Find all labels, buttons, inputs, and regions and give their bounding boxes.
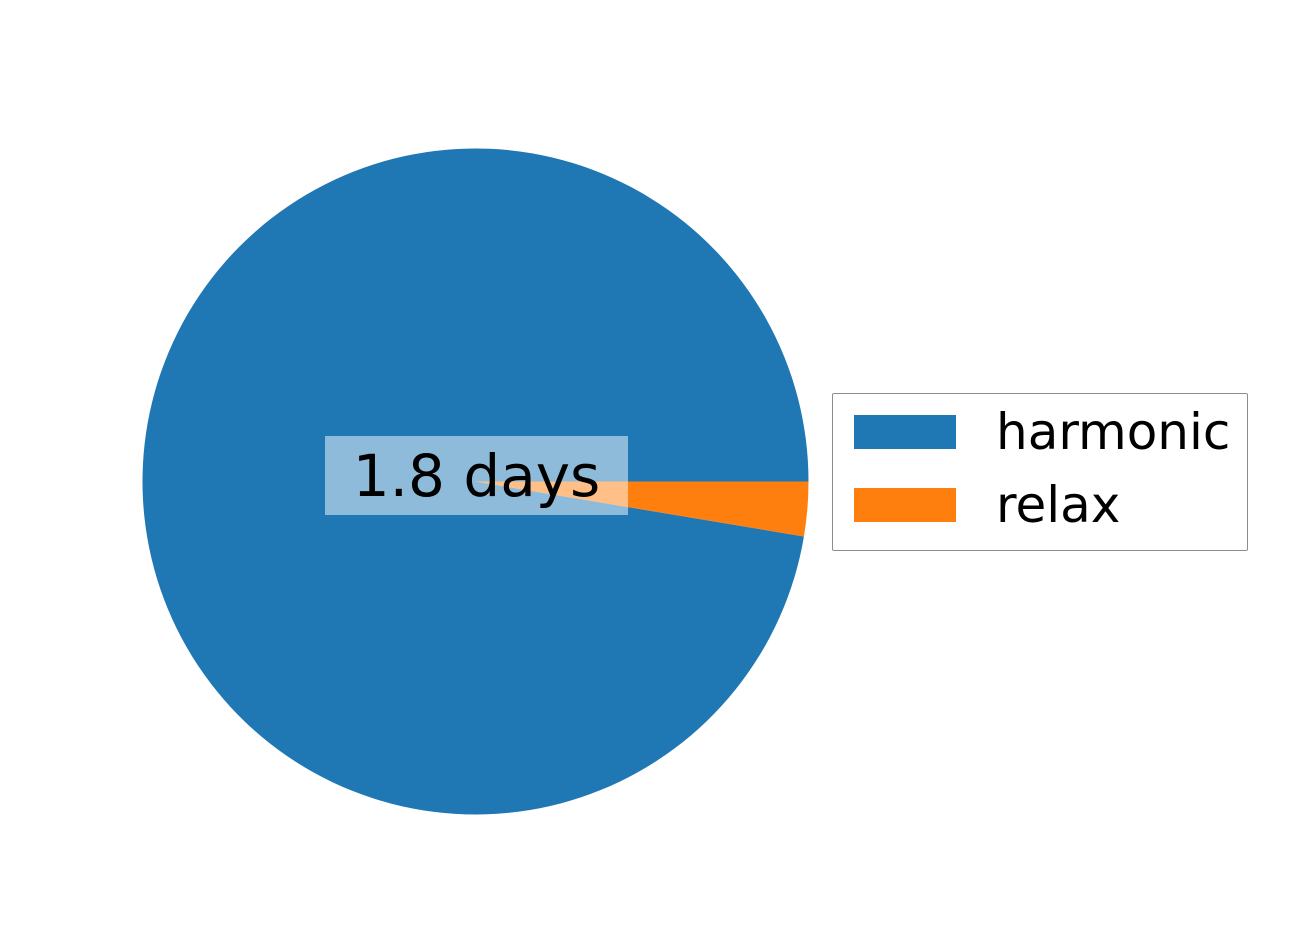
legend-entry-relax[interactable]: relax	[854, 480, 1120, 530]
legend-label-harmonic: harmonic	[996, 407, 1230, 457]
legend-label-relax: relax	[996, 480, 1120, 530]
legend-entry-harmonic[interactable]: harmonic	[854, 407, 1230, 457]
wedge-value-label-relax: 1.8 days	[325, 436, 628, 515]
legend-swatch-harmonic	[854, 415, 956, 449]
chart-legend: harmonic relax	[832, 393, 1248, 551]
pie-chart-figure: 1.8 days harmonic relax	[0, 0, 1307, 951]
legend-swatch-relax	[854, 488, 956, 522]
